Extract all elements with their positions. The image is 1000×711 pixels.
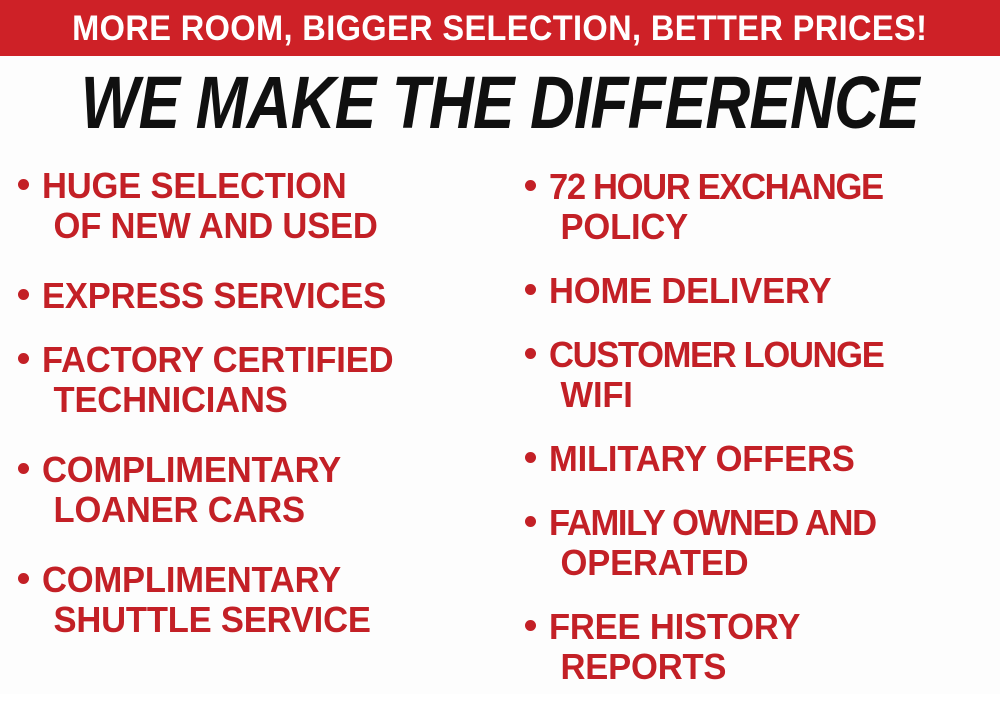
list-item: MILITARY OFFERS [525, 439, 1000, 479]
list-item-text: MILITARY OFFERS [549, 439, 855, 479]
list-item: EXPRESS SERVICES [18, 276, 505, 316]
bullet-dot-icon [525, 516, 536, 527]
bullet-dot-icon [525, 348, 536, 359]
list-item-line-1: CUSTOMER LOUNGE [549, 335, 883, 375]
bullet-dot-icon [18, 353, 29, 364]
list-item-line-1: COMPLIMENTARY [42, 560, 371, 600]
top-banner: MORE ROOM, BIGGER SELECTION, BETTER PRIC… [0, 0, 1000, 56]
list-item: HUGE SELECTION OF NEW AND USED [18, 166, 505, 246]
list-item-line-1: 72 HOUR EXCHANGE [549, 167, 883, 207]
list-item: HOME DELIVERY [525, 271, 1000, 311]
benefits-columns: HUGE SELECTION OF NEW AND USED EXPRESS S… [0, 156, 1000, 694]
list-item-line-2: OPERATED [549, 543, 876, 583]
list-item-text: FACTORY CERTIFIED TECHNICIANS [42, 340, 393, 420]
list-item: FREE HISTORY REPORTS [525, 607, 1000, 687]
bullet-dot-icon [525, 620, 536, 631]
bullet-dot-icon [18, 463, 29, 474]
list-item: CUSTOMER LOUNGE WIFI [525, 335, 1000, 415]
benefits-column-left: HUGE SELECTION OF NEW AND USED EXPRESS S… [0, 156, 505, 670]
list-item: FAMILY OWNED AND OPERATED [525, 503, 1000, 583]
list-item-line-1: FAMILY OWNED AND [549, 503, 876, 543]
list-item-text: 72 HOUR EXCHANGE POLICY [549, 167, 883, 247]
list-item-line-1: HOME DELIVERY [549, 271, 831, 311]
list-item: COMPLIMENTARY LOANER CARS [18, 450, 505, 530]
list-item-text: HOME DELIVERY [549, 271, 831, 311]
list-item-line-2: WIFI [549, 375, 883, 415]
list-item-line-1: HUGE SELECTION [42, 166, 378, 206]
bullet-dot-icon [18, 573, 29, 584]
list-item-text: FREE HISTORY REPORTS [549, 607, 800, 687]
list-item-line-2: LOANER CARS [42, 490, 341, 530]
list-item-text: HUGE SELECTION OF NEW AND USED [42, 166, 378, 246]
list-item-text: COMPLIMENTARY LOANER CARS [42, 450, 341, 530]
list-item-line-1: FREE HISTORY [549, 607, 800, 647]
list-item-line-2: REPORTS [549, 647, 800, 687]
bullet-dot-icon [18, 179, 29, 190]
page-title: WE MAKE THE DIFFERENCE [81, 66, 919, 140]
list-item-line-1: EXPRESS SERVICES [42, 276, 386, 316]
banner-headline-text: MORE ROOM, BIGGER SELECTION, BETTER PRIC… [72, 11, 927, 46]
list-item-text: COMPLIMENTARY SHUTTLE SERVICE [42, 560, 371, 640]
list-item-line-2: POLICY [549, 207, 883, 247]
list-item-line-1: FACTORY CERTIFIED [42, 340, 393, 380]
list-item-line-1: MILITARY OFFERS [549, 439, 855, 479]
list-item-text: CUSTOMER LOUNGE WIFI [549, 335, 883, 415]
bullet-dot-icon [525, 452, 536, 463]
list-item-text: EXPRESS SERVICES [42, 276, 386, 316]
list-item: COMPLIMENTARY SHUTTLE SERVICE [18, 560, 505, 640]
list-item-line-1: COMPLIMENTARY [42, 450, 341, 490]
bullet-dot-icon [18, 289, 29, 300]
promo-poster: MORE ROOM, BIGGER SELECTION, BETTER PRIC… [0, 0, 1000, 694]
bullet-dot-icon [525, 284, 536, 295]
list-item: FACTORY CERTIFIED TECHNICIANS [18, 340, 505, 420]
bullet-dot-icon [525, 180, 536, 191]
list-item-line-2: SHUTTLE SERVICE [42, 600, 371, 640]
headline-container: WE MAKE THE DIFFERENCE [0, 62, 1000, 144]
list-item: 72 HOUR EXCHANGE POLICY [525, 167, 1000, 247]
list-item-text: FAMILY OWNED AND OPERATED [549, 503, 876, 583]
benefits-column-right: 72 HOUR EXCHANGE POLICY HOME DELIVERY CU… [505, 156, 1000, 711]
list-item-line-2: OF NEW AND USED [42, 206, 378, 246]
list-item-line-2: TECHNICIANS [42, 380, 393, 420]
